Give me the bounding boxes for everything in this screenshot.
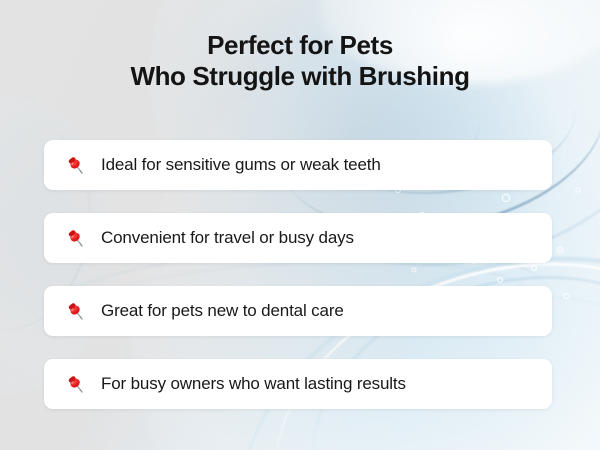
page-title: Perfect for Pets Who Struggle with Brush… xyxy=(0,30,600,92)
list-item-label: Great for pets new to dental care xyxy=(101,301,344,321)
pushpin-icon xyxy=(63,299,87,323)
banner-content: Perfect for Pets Who Struggle with Brush… xyxy=(0,0,600,450)
headline-line-2: Who Struggle with Brushing xyxy=(0,61,600,92)
list-item: Convenient for travel or busy days xyxy=(44,213,552,263)
list-item: For busy owners who want lasting results xyxy=(44,359,552,409)
list-item: Great for pets new to dental care xyxy=(44,286,552,336)
benefit-list: Ideal for sensitive gums or weak teeth xyxy=(44,140,552,409)
promo-banner: Perfect for Pets Who Struggle with Brush… xyxy=(0,0,600,450)
pushpin-icon xyxy=(63,153,87,177)
list-item: Ideal for sensitive gums or weak teeth xyxy=(44,140,552,190)
headline-line-1: Perfect for Pets xyxy=(0,30,600,61)
list-item-label: Convenient for travel or busy days xyxy=(101,228,354,248)
pushpin-icon xyxy=(63,226,87,250)
pushpin-icon xyxy=(63,372,87,396)
list-item-label: For busy owners who want lasting results xyxy=(101,374,406,394)
list-item-label: Ideal for sensitive gums or weak teeth xyxy=(101,155,381,175)
